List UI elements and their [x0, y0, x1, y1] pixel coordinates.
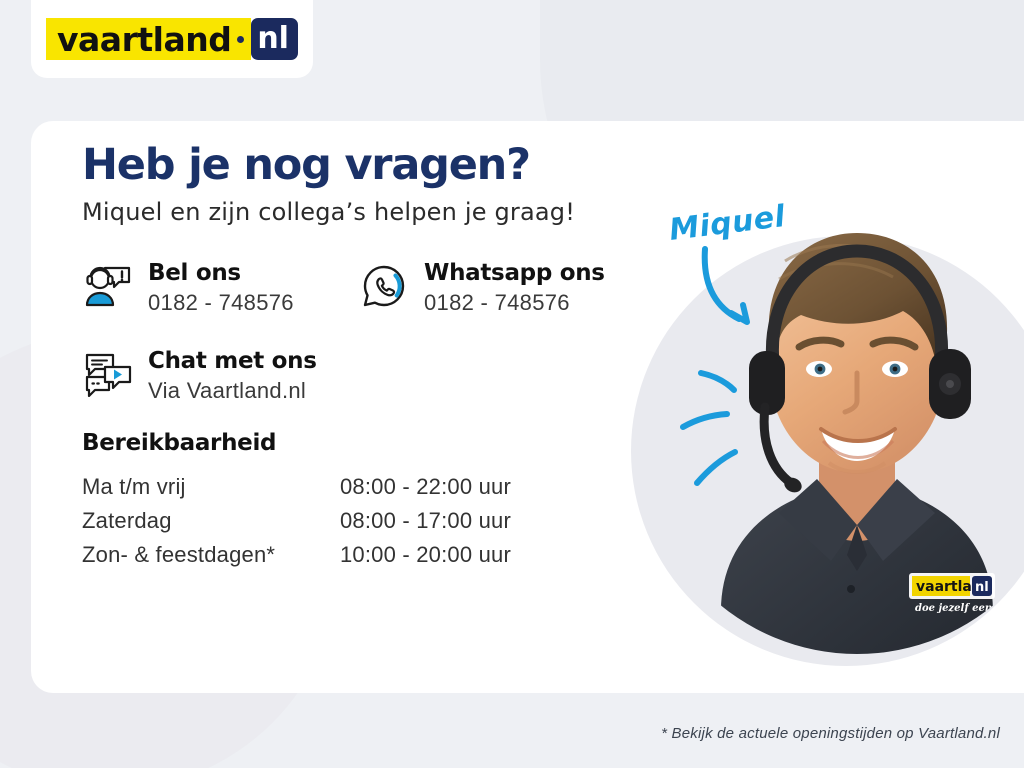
- contact-call-title: Bel ons: [148, 260, 241, 286]
- hours-time: 10:00 - 20:00 uur: [340, 538, 511, 572]
- person-section: Miquel: [631, 121, 1024, 693]
- page-title: Heb je nog vragen?: [82, 143, 642, 188]
- content-column: Heb je nog vragen? Miquel en zijn colleg…: [82, 143, 642, 572]
- brand-logo-card[interactable]: vaartland nl: [31, 0, 313, 78]
- contact-chat[interactable]: Chat met ons Via Vaartland.nl: [82, 346, 317, 404]
- contact-methods: Bel ons 0182 - 748576 Whatsapp ons 0182 …: [82, 258, 642, 408]
- opening-hours: Bereikbaarheid Ma t/m vrij 08:00 - 22:00…: [82, 430, 642, 572]
- contact-whatsapp-text: Whatsapp ons 0182 - 748576: [424, 258, 605, 316]
- svg-text:nl: nl: [975, 580, 989, 595]
- hours-time: 08:00 - 22:00 uur: [340, 470, 511, 504]
- logo-dot-wrap: [240, 18, 251, 60]
- contact-call-number[interactable]: 0182 - 748576: [148, 290, 294, 316]
- opening-hours-table: Ma t/m vrij 08:00 - 22:00 uur Zaterdag 0…: [82, 470, 511, 572]
- svg-text:doe jezelf een plezier: doe jezelf een plezier: [915, 603, 1024, 614]
- contact-whatsapp-number[interactable]: 0182 - 748576: [424, 290, 605, 316]
- contact-chat-text: Chat met ons Via Vaartland.nl: [148, 346, 317, 404]
- contact-whatsapp-title: Whatsapp ons: [424, 260, 605, 286]
- footnote-text: * Bekijk de actuele openingstijden op Va…: [661, 725, 1000, 742]
- chat-bubbles-icon: [82, 348, 134, 400]
- contact-chat-title: Chat met ons: [148, 348, 317, 374]
- opening-hours-title: Bereikbaarheid: [82, 430, 642, 456]
- hours-time: 08:00 - 17:00 uur: [340, 504, 511, 538]
- whatsapp-icon: [358, 260, 410, 312]
- page-subtitle: Miquel en zijn collega’s helpen je graag…: [82, 198, 642, 226]
- logo-tld: nl: [251, 18, 298, 60]
- contact-call-text: Bel ons 0182 - 748576: [148, 258, 294, 316]
- table-row: Zaterdag 08:00 - 17:00 uur: [82, 504, 511, 538]
- hours-day: Zaterdag: [82, 504, 340, 538]
- hours-day: Zon- & feestdagen*: [82, 538, 340, 572]
- main-content-card: Heb je nog vragen? Miquel en zijn colleg…: [31, 121, 1024, 693]
- table-row: Ma t/m vrij 08:00 - 22:00 uur: [82, 470, 511, 504]
- employee-photo: vaartland nl doe jezelf een plezier: [661, 141, 1024, 693]
- headset-person-icon: [82, 260, 134, 312]
- logo-dot-icon: [237, 36, 244, 43]
- logo-wordmark: vaartland: [46, 18, 240, 60]
- contact-call[interactable]: Bel ons 0182 - 748576: [82, 258, 294, 316]
- vaartland-logo[interactable]: vaartland nl: [46, 18, 298, 60]
- table-row: Zon- & feestdagen* 10:00 - 20:00 uur: [82, 538, 511, 572]
- contact-chat-link[interactable]: Via Vaartland.nl: [148, 378, 317, 404]
- contact-whatsapp[interactable]: Whatsapp ons 0182 - 748576: [358, 258, 605, 316]
- hours-day: Ma t/m vrij: [82, 470, 340, 504]
